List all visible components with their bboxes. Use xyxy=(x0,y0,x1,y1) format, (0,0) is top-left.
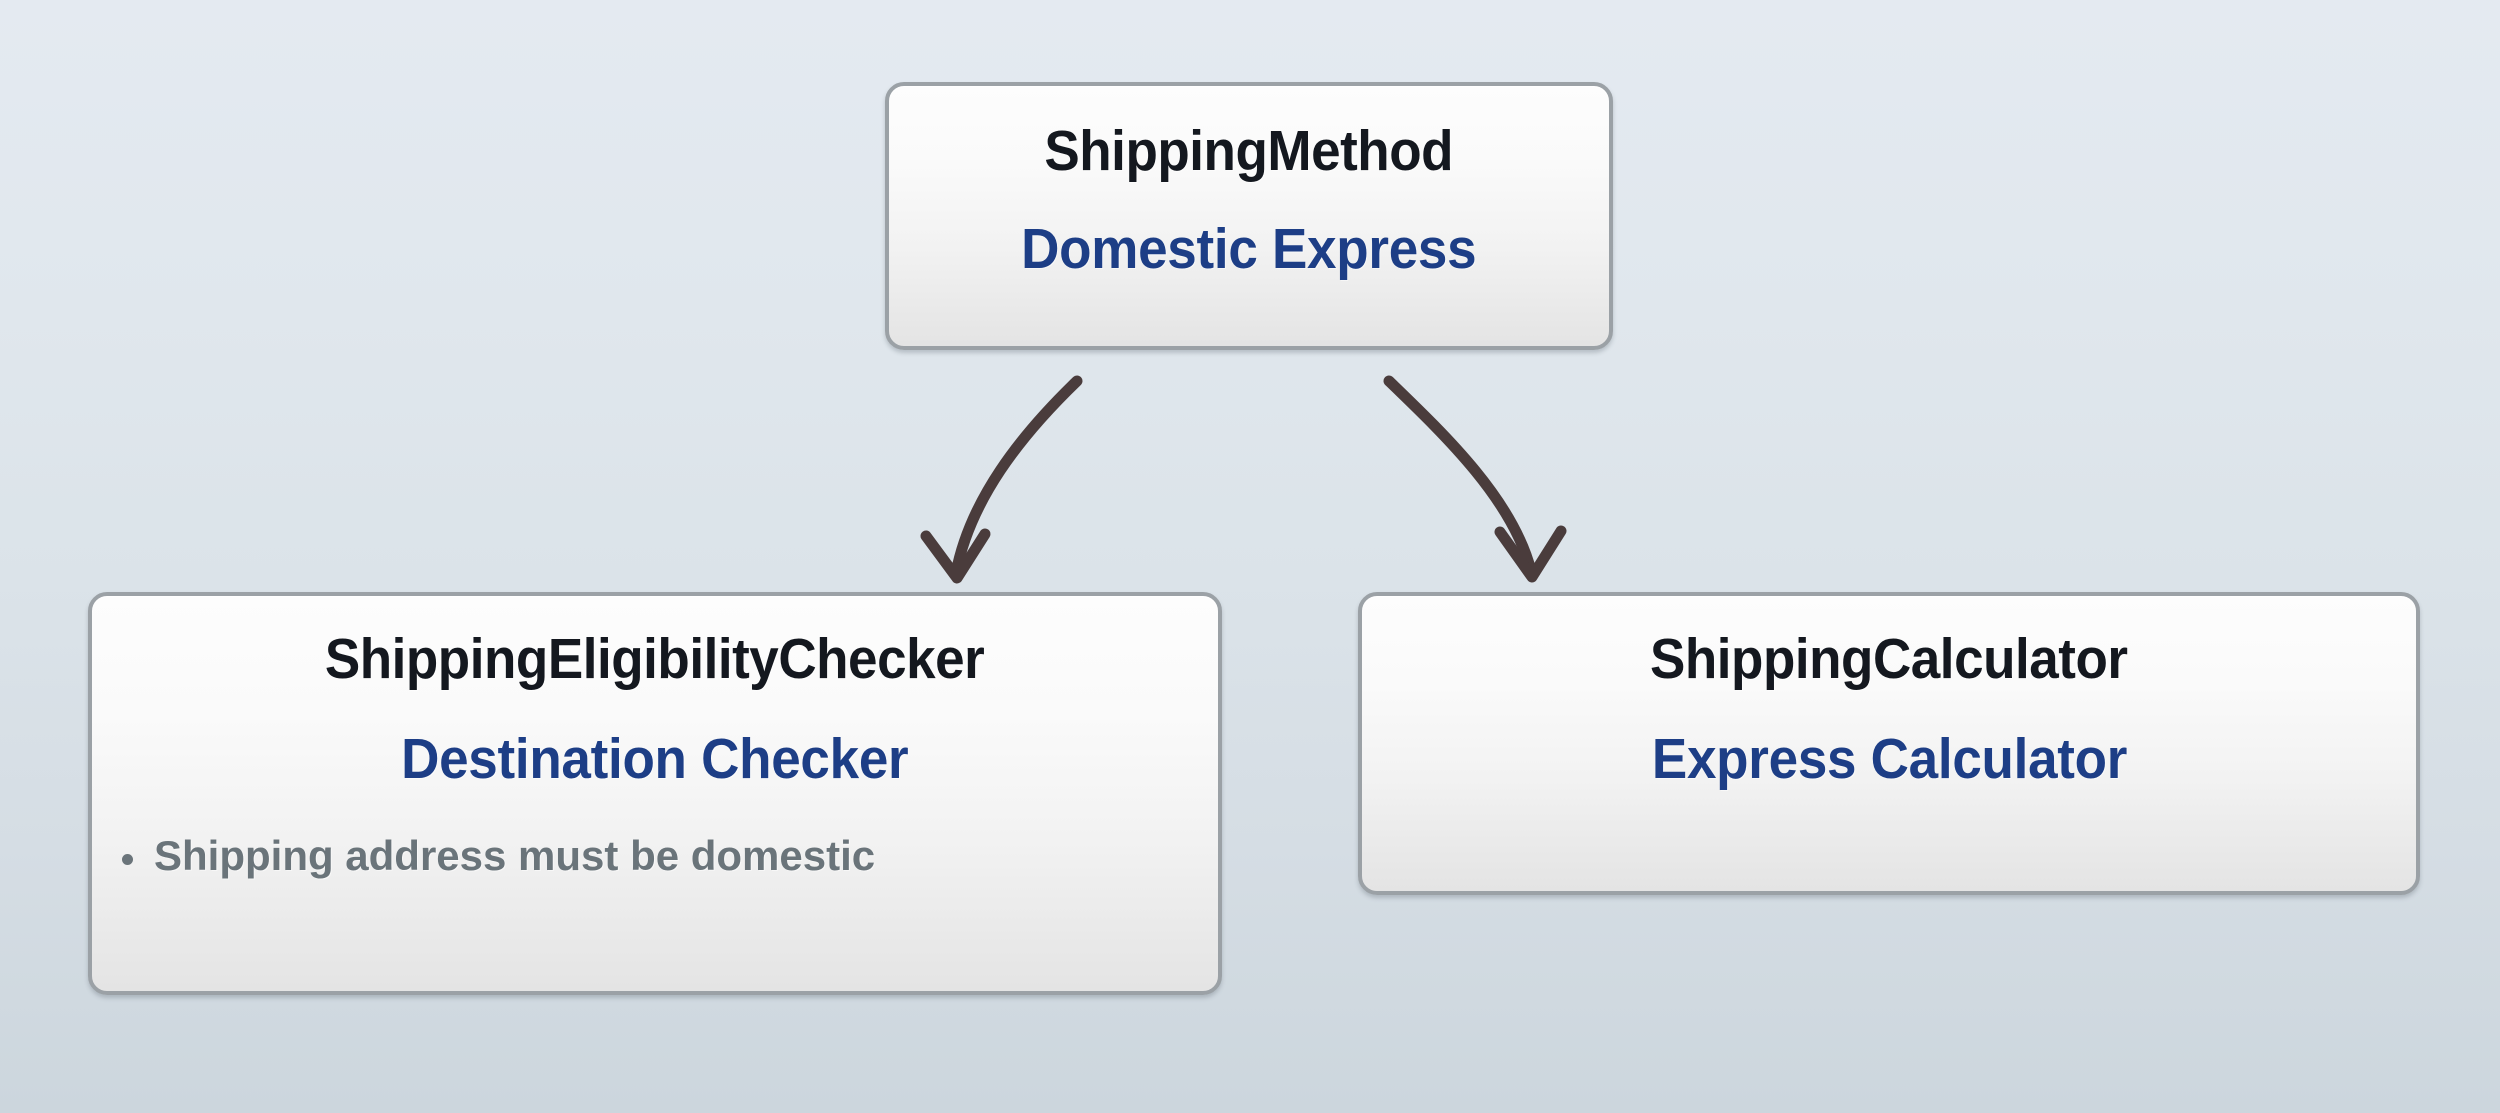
node-shipping-eligibility-checker-subtitle: Destination Checker xyxy=(401,730,908,790)
diagram-canvas: ShippingMethod Domestic Express Shipping… xyxy=(0,0,2500,1113)
bullet-icon xyxy=(122,854,133,865)
node-shipping-calculator[interactable]: ShippingCalculator Express Calculator xyxy=(1358,592,2420,895)
node-shipping-eligibility-checker-title: ShippingEligibilityChecker xyxy=(325,630,984,690)
edge-root-to-shipping-calculator xyxy=(1389,381,1561,577)
node-shipping-method[interactable]: ShippingMethod Domestic Express xyxy=(885,82,1613,350)
eligibility-rule-text: Shipping address must be domestic xyxy=(154,832,875,879)
node-shipping-method-subtitle: Domestic Express xyxy=(1021,220,1476,280)
eligibility-rule-list: Shipping address must be domestic xyxy=(92,832,1218,880)
node-shipping-method-title: ShippingMethod xyxy=(1045,122,1454,182)
node-shipping-calculator-title: ShippingCalculator xyxy=(1650,630,2128,690)
edge-root-to-eligibility-checker xyxy=(926,381,1077,578)
list-item: Shipping address must be domestic xyxy=(92,832,1218,880)
node-shipping-eligibility-checker[interactable]: ShippingEligibilityChecker Destination C… xyxy=(88,592,1222,995)
node-shipping-calculator-subtitle: Express Calculator xyxy=(1651,730,2126,790)
